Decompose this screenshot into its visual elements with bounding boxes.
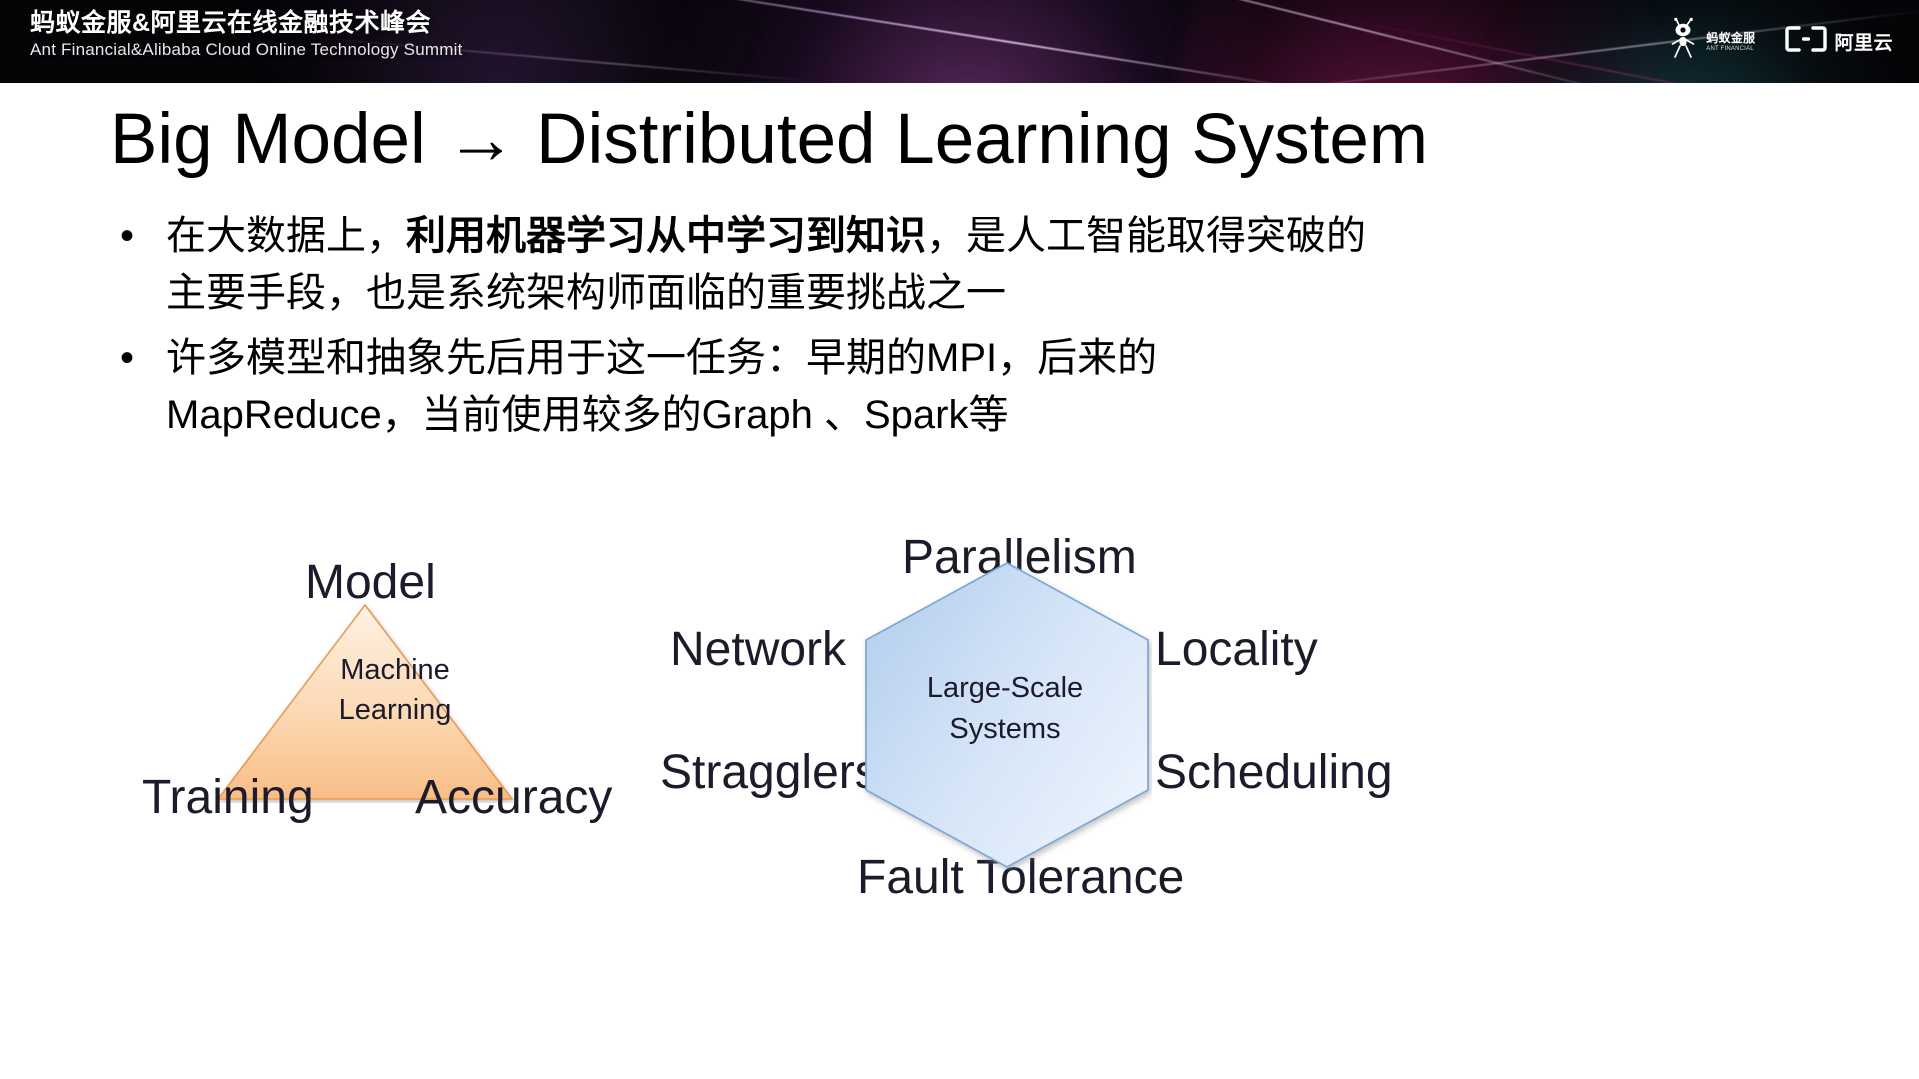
ant-financial-logo: 蚂蚁金服 ANT FINANCIAL: [1670, 17, 1755, 66]
banner-title-english: Ant Financial&Alibaba Cloud Online Techn…: [30, 38, 463, 62]
triangle-vertex-right-label: Accuracy: [415, 770, 612, 825]
bullet-seg: ，是人工智能取得突破的: [926, 214, 1366, 258]
bullet-line: 许多模型和抽象先后用于这一任务：早期的MPI，后来的: [166, 330, 1812, 387]
bullet-seg: 在大数据上，: [166, 214, 406, 258]
bullet-list: • 在大数据上，利用机器学习从中学习到知识，是人工智能取得突破的 主要手段，也是…: [112, 208, 1812, 452]
alibaba-cloud-label: 阿里云: [1834, 28, 1893, 55]
banner-logo-group: 蚂蚁金服 ANT FINANCIAL 阿里云: [1670, 0, 1893, 83]
triangle-center-line-2: Learning: [300, 690, 490, 730]
ant-financial-label-cn: 蚂蚁金服: [1706, 32, 1755, 44]
hexagon-center-label: Large-Scale Systems: [910, 668, 1100, 750]
triangle-vertex-top-label: Model: [305, 555, 436, 610]
large-scale-systems-hexagon-diagram: Parallelism Network Locality Stragglers …: [800, 540, 1560, 1060]
triangle-center-line-1: Machine: [300, 650, 490, 690]
hexagon-vertex-upper-right-label: Locality: [1155, 622, 1318, 677]
bullet-text: 在大数据上，利用机器学习从中学习到知识，是人工智能取得突破的 主要手段，也是系统…: [166, 208, 1812, 322]
alibaba-cloud-icon: [1785, 26, 1827, 57]
list-item: • 许多模型和抽象先后用于这一任务：早期的MPI，后来的 MapReduce，当…: [112, 330, 1812, 444]
bullet-seg-emphasis: 利用机器学习从中学习到知识: [406, 214, 926, 258]
ant-financial-label-en: ANT FINANCIAL: [1706, 46, 1755, 52]
banner-title-block: 蚂蚁金服&阿里云在线金融技术峰会 Ant Financial&Alibaba C…: [30, 8, 463, 62]
hexagon-vertex-upper-left-label: Network: [670, 622, 846, 677]
bullet-line: MapReduce，当前使用较多的Graph 、Spark等: [166, 387, 1812, 444]
hexagon-vertex-lower-left-label: Stragglers: [660, 745, 879, 800]
hexagon-center-line-2: Systems: [910, 709, 1100, 750]
bullet-seg: 主要手段，也是系统架构师面临的重要挑战之一: [166, 271, 1006, 315]
bullet-marker-icon: •: [112, 330, 166, 387]
alibaba-cloud-logo: 阿里云: [1785, 26, 1893, 57]
bullet-seg: 许多模型和抽象先后用于这一任务：早期的MPI，后来的: [166, 336, 1157, 380]
bullet-line: 主要手段，也是系统架构师面临的重要挑战之一: [166, 265, 1812, 322]
ant-mascot-icon: [1670, 17, 1700, 66]
slide-root: 蚂蚁金服&阿里云在线金融技术峰会 Ant Financial&Alibaba C…: [0, 0, 1919, 1079]
list-item: • 在大数据上，利用机器学习从中学习到知识，是人工智能取得突破的 主要手段，也是…: [112, 208, 1812, 322]
banner-title-chinese: 蚂蚁金服&阿里云在线金融技术峰会: [30, 8, 463, 38]
page-title: Big Model → Distributed Learning System: [110, 97, 1810, 183]
triangle-vertex-left-label: Training: [142, 770, 314, 825]
ant-financial-wordmark: 蚂蚁金服 ANT FINANCIAL: [1706, 32, 1755, 52]
bullet-line: 在大数据上，利用机器学习从中学习到知识，是人工智能取得突破的: [166, 208, 1812, 265]
triangle-center-label: Machine Learning: [300, 650, 490, 730]
bullet-marker-icon: •: [112, 208, 166, 265]
summit-banner: 蚂蚁金服&阿里云在线金融技术峰会 Ant Financial&Alibaba C…: [0, 0, 1919, 83]
hexagon-vertex-lower-right-label: Scheduling: [1155, 745, 1393, 800]
hexagon-center-line-1: Large-Scale: [910, 668, 1100, 709]
bullet-seg: MapReduce，当前使用较多的Graph 、Spark等: [166, 393, 1008, 437]
bullet-text: 许多模型和抽象先后用于这一任务：早期的MPI，后来的 MapReduce，当前使…: [166, 330, 1812, 444]
